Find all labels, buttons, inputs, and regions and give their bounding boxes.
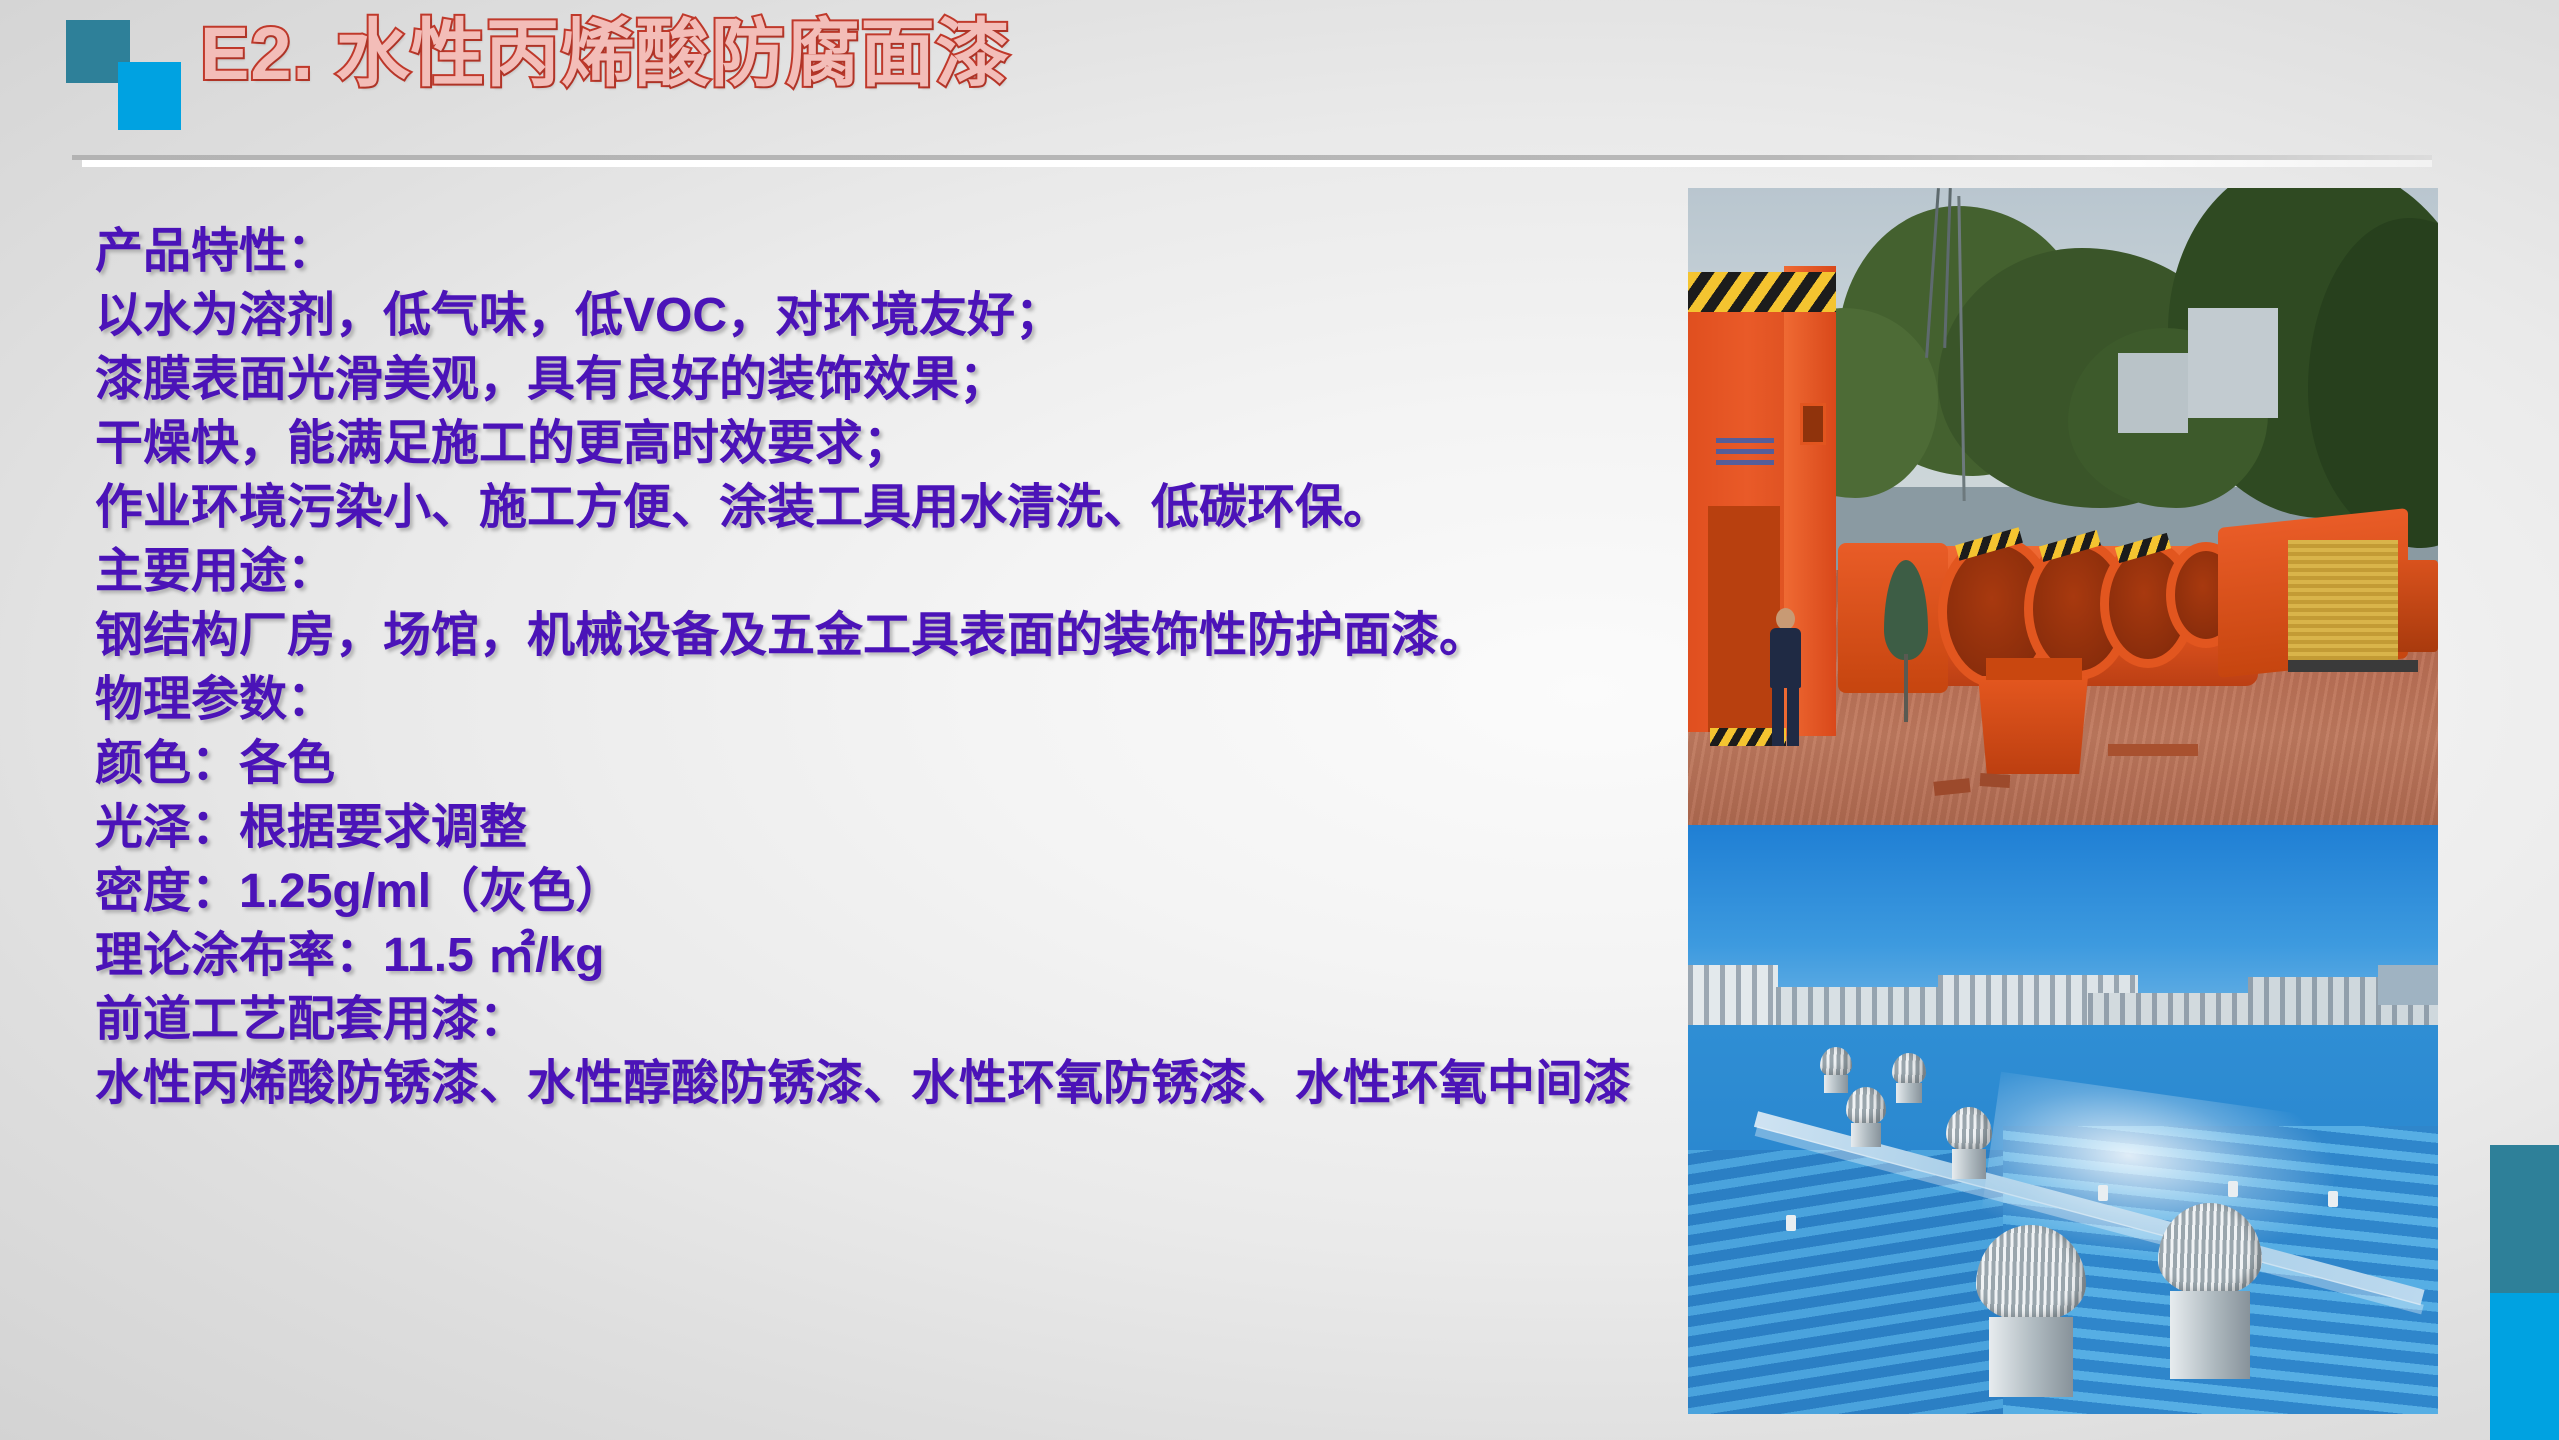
painted-hopper-lip [1986,658,2082,680]
edge-decor-square-teal [2490,1145,2559,1293]
roof-fastener [2098,1185,2108,1201]
worker-torso [1770,628,1801,688]
blue-roof-surface [1688,1025,2438,1414]
background-building [2188,308,2278,418]
turbine-dome [2158,1203,2262,1295]
turbine-dome [1976,1225,2086,1321]
text-line: 光泽：根据要求调整 [95,796,1685,860]
worker-leg [1787,686,1799,746]
text-line: 颜色：各色 [95,732,1685,796]
straw-bundle-stack [2288,540,2398,665]
umbrella-pole [1904,654,1908,722]
building-windows [1688,965,1778,1027]
tower-doorway [1708,506,1780,732]
roof-fastener [2328,1191,2338,1207]
text-line: 干燥快，能满足施工的更高时效要求； [95,412,1685,476]
turbine-base [1952,1149,1987,1179]
header-decor-square-blue [118,62,181,130]
brick [1980,773,2011,788]
roof-turbine-ventilator [1846,1087,1886,1147]
turbine-base [1851,1123,1881,1147]
text-line: 作业环境污染小、施工方便、涂装工具用水清洗、低碳环保。 [95,476,1685,540]
text-line: 物理参数： [95,668,1685,732]
painted-hopper-bin [1978,676,2088,774]
turbine-base [1824,1075,1848,1093]
roof-fastener [2228,1181,2238,1197]
text-line: 主要用途： [95,540,1685,604]
text-line: 水性丙烯酸防锈漆、水性醇酸防锈漆、水性环氧防锈漆、水性环氧中间漆 [95,1052,1685,1116]
product-description-text: 产品特性： 以水为溶剂，低气味，低VOC，对环境友好； 漆膜表面光滑美观，具有良… [95,220,1685,1116]
worker-head [1776,608,1795,630]
blue-coated-metal-roof-photo [1688,825,2438,1414]
roof-fastener [1786,1215,1796,1231]
slide-canvas: E2. 水性丙烯酸防腐面漆 产品特性： 以水为溶剂，低气味，低VOC，对环境友好… [0,0,2559,1440]
text-line: 产品特性： [95,220,1685,284]
worker-leg [1772,686,1784,746]
edge-decor-square-blue [2490,1293,2559,1440]
roof-turbine-ventilator [1892,1053,1926,1103]
text-line: 漆膜表面光滑美观，具有良好的装饰效果； [95,348,1685,412]
text-line: 前道工艺配套用漆： [95,988,1685,1052]
text-line: 密度：1.25g/ml（灰色） [95,860,1685,924]
trailer-chassis [2288,660,2418,672]
turbine-dome [1892,1053,1926,1085]
tower-window [1800,403,1826,445]
text-line: 理论涂布率：11.5 ㎡/kg [95,924,1685,988]
roof-turbine-ventilator [1946,1107,1992,1179]
roof-turbine-ventilator [1976,1225,2086,1397]
orange-coated-industrial-equipment-photo [1688,188,2438,825]
steel-debris [2108,744,2198,756]
page-title: E2. 水性丙烯酸防腐面漆 [200,8,1011,101]
header-divider [72,155,2432,167]
tower-signage [1716,438,1774,470]
tower-hazard-cap [1688,272,1836,312]
turbine-dome [1820,1047,1852,1077]
turbine-base [2170,1291,2249,1379]
slide-header: E2. 水性丙烯酸防腐面漆 [0,0,2559,175]
text-line: 钢结构厂房，场馆，机械设备及五金工具表面的装饰性防护面漆。 [95,604,1685,668]
turbine-dome [1946,1107,1992,1151]
text-line: 以水为溶剂，低气味，低VOC，对环境友好； [95,284,1685,348]
header-divider-light-line [82,160,2432,167]
background-building [2118,353,2188,433]
turbine-base [1896,1083,1922,1103]
background-building [2378,965,2438,1005]
photo-column [1688,188,2438,1414]
roof-turbine-ventilator [2158,1203,2262,1379]
turbine-base [1989,1317,2073,1397]
turbine-dome [1846,1087,1886,1125]
background-building [1688,965,1778,1027]
